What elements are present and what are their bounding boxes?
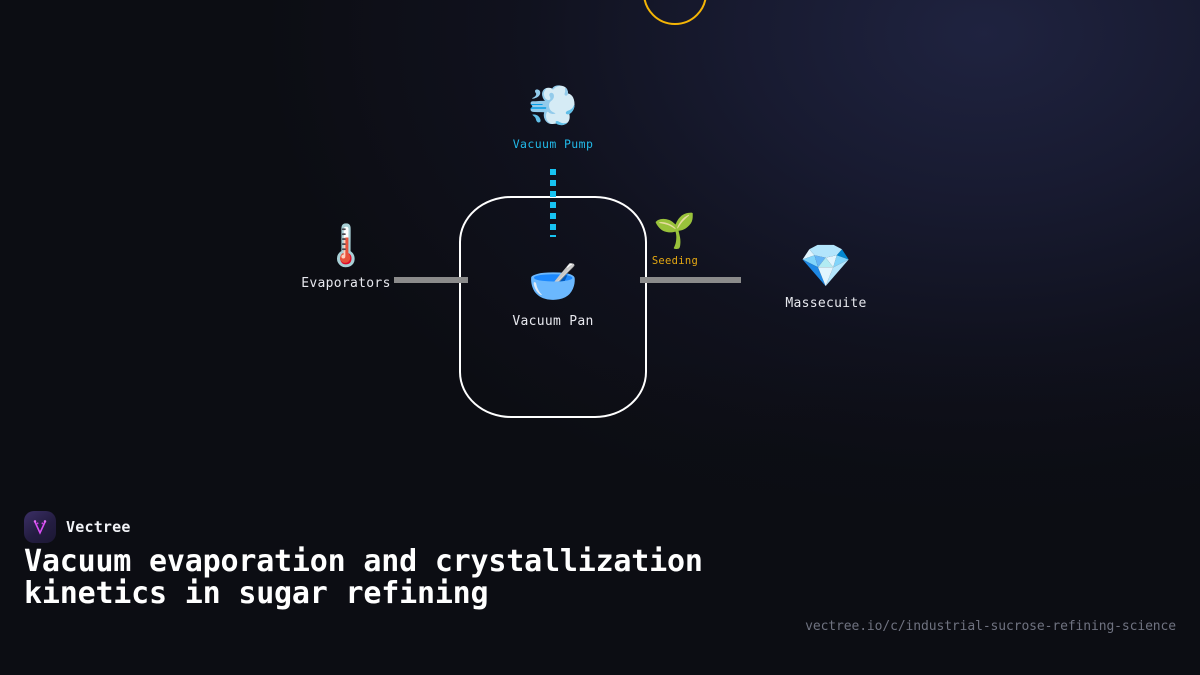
- node-vacuum-pump[interactable]: 💨 Vacuum Pump: [453, 86, 653, 151]
- footer: Vectree Vacuum evaporation and crystalli…: [0, 494, 1200, 675]
- node-vacuum-pump-label: Vacuum Pump: [513, 137, 594, 151]
- vectree-logo-icon: [24, 511, 56, 543]
- node-massecuite-label: Massecuite: [785, 296, 866, 311]
- node-vacuum-pan[interactable]: 🥣 Vacuum Pan: [453, 262, 653, 329]
- bowl-with-spoon-icon: 🥣: [528, 262, 578, 302]
- brand[interactable]: Vectree: [24, 511, 131, 543]
- source-url: vectree.io/c/industrial-sucrose-refining…: [805, 619, 1176, 634]
- wind-dash-icon: 💨: [528, 86, 578, 126]
- screenshot-canvas: 💨 Vacuum Pump 🌡️ Evaporators 🥣 Vacuum Pa…: [0, 0, 1200, 675]
- page-title: Vacuum evaporation and crystallization k…: [24, 546, 764, 610]
- node-evaporators[interactable]: 🌡️ Evaporators: [246, 226, 446, 291]
- brand-name: Vectree: [66, 518, 131, 536]
- gem-stone-icon: 💎: [800, 245, 852, 287]
- node-massecuite[interactable]: 💎 Massecuite: [726, 245, 926, 311]
- seedling-icon: 🌱: [654, 214, 696, 248]
- node-seeding-label: Seeding: [652, 255, 698, 267]
- node-vacuum-pan-label: Vacuum Pan: [512, 314, 593, 329]
- node-seeding[interactable]: 🌱 Seeding: [625, 214, 725, 267]
- connector-pump-to-pan: [550, 169, 556, 237]
- node-evaporators-label: Evaporators: [301, 276, 390, 291]
- thermometer-icon: 🌡️: [321, 226, 371, 266]
